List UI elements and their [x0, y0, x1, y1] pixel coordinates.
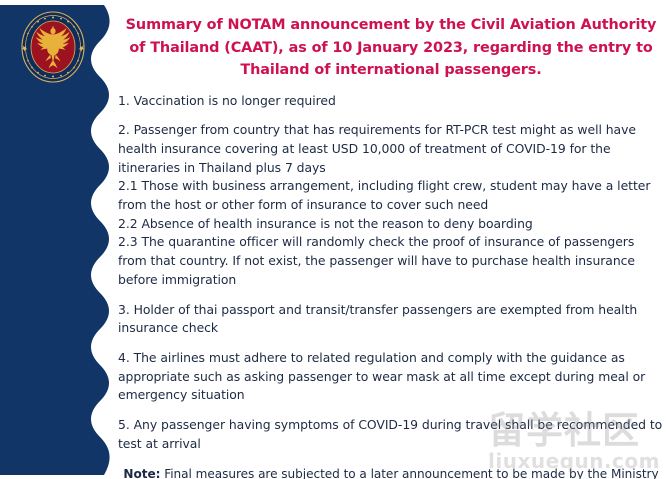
note-block: Note: Final measures are subjected to a …	[118, 466, 664, 479]
list-item: 2.2 Absence of health insurance is not t…	[118, 215, 664, 234]
list-item: 2. Passenger from country that has requi…	[118, 121, 664, 177]
list-item: 5. Any passenger having symptoms of COVI…	[118, 416, 664, 453]
list-item: 1. Vaccination is no longer required	[118, 92, 664, 111]
notice-content: Summary of NOTAM announcement by the Civ…	[118, 14, 664, 474]
list-item: 4. The airlines must adhere to related r…	[118, 349, 664, 405]
list-item: 2.1 Those with business arrangement, inc…	[118, 177, 664, 214]
royal-thai-embassy-seal-icon	[17, 8, 89, 86]
page-title: Summary of NOTAM announcement by the Civ…	[118, 14, 664, 82]
list-item: 2.3 The quarantine officer will randomly…	[118, 233, 664, 289]
note-label: Note:	[123, 467, 160, 479]
list-item: 3. Holder of thai passport and transit/t…	[118, 301, 664, 338]
notam-summary-graphic: Summary of NOTAM announcement by the Civ…	[0, 0, 668, 479]
note-text: Final measures are subjected to a later …	[164, 467, 658, 479]
